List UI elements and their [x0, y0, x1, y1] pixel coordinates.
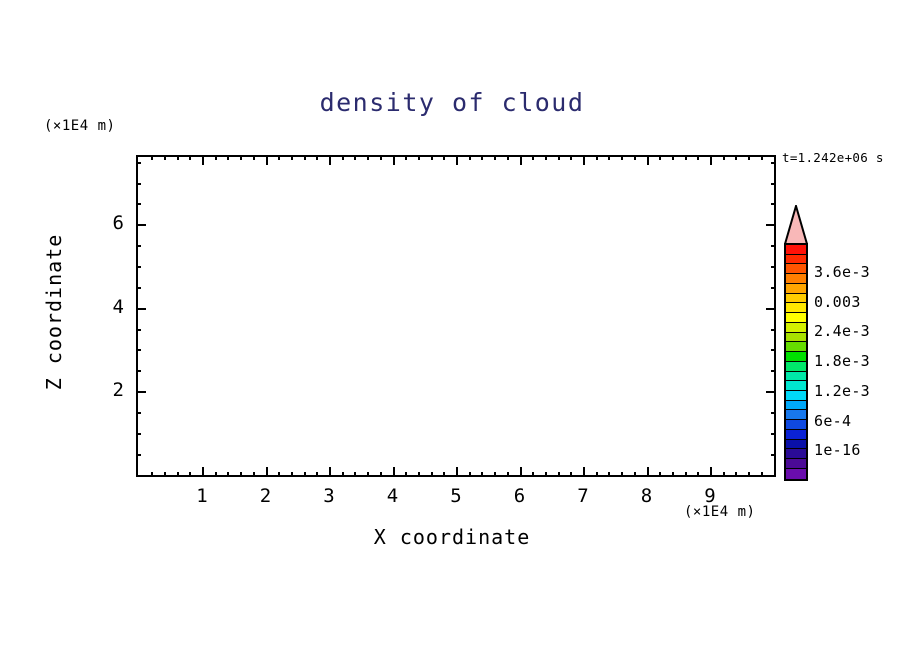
colorbar-label-layer: 3.6e-30.0032.4e-31.8e-31.2e-36e-41e-16	[0, 0, 904, 654]
colorbar-tick-label: 1.8e-3	[814, 352, 870, 370]
colorbar-tick-label: 6e-4	[814, 412, 851, 430]
colorbar-tick-label: 0.003	[814, 293, 861, 311]
colorbar-tick-label: 1e-16	[814, 441, 861, 459]
colorbar-tick-label: 2.4e-3	[814, 322, 870, 340]
colorbar-tick-label: 3.6e-3	[814, 263, 870, 281]
colorbar-tick-label: 1.2e-3	[814, 382, 870, 400]
